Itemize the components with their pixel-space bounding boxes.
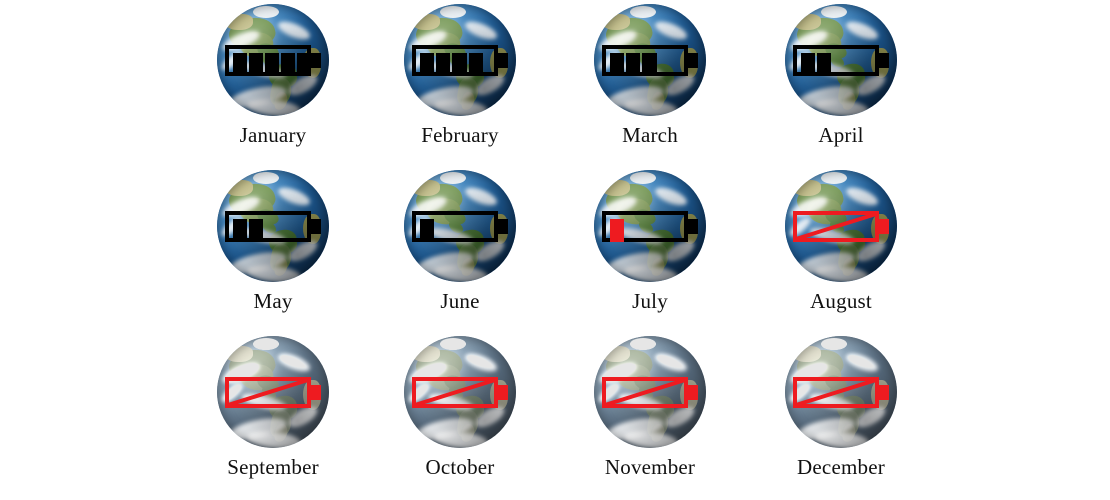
battery-segment xyxy=(420,53,434,76)
battery-outline xyxy=(602,45,688,76)
battery-segments xyxy=(420,219,498,242)
month-label: April xyxy=(818,125,863,146)
battery-segment xyxy=(281,53,295,76)
battery-segment xyxy=(420,219,434,242)
month-cell-october: October xyxy=(367,332,553,498)
battery-terminal-nub xyxy=(688,385,698,400)
battery-terminal-nub xyxy=(688,219,698,234)
battery-terminal-nub xyxy=(879,219,889,234)
globe-with-battery xyxy=(785,4,897,116)
battery-gauge-icon xyxy=(412,377,508,408)
battery-terminal-nub xyxy=(498,219,508,234)
battery-terminal-nub xyxy=(311,219,321,234)
battery-segments xyxy=(233,219,311,242)
battery-terminal-nub xyxy=(498,385,508,400)
month-label: January xyxy=(240,125,307,146)
battery-segment xyxy=(642,53,656,76)
battery-segments xyxy=(233,53,311,76)
battery-segments xyxy=(420,385,498,408)
globe-with-battery xyxy=(594,4,706,116)
globe-with-battery xyxy=(594,170,706,282)
battery-gauge-icon xyxy=(602,377,698,408)
battery-gauge-icon xyxy=(793,211,889,242)
month-label: July xyxy=(632,291,668,312)
month-cell-september: September xyxy=(180,332,366,498)
battery-gauge-icon xyxy=(793,377,889,408)
battery-outline xyxy=(412,45,498,76)
month-cell-april: April xyxy=(748,0,934,166)
month-label: December xyxy=(797,457,885,478)
battery-outline xyxy=(225,377,311,408)
battery-segments xyxy=(801,53,879,76)
battery-segment xyxy=(801,53,815,76)
battery-outline xyxy=(225,211,311,242)
month-cell-december: December xyxy=(748,332,934,498)
battery-segment xyxy=(452,53,466,76)
battery-gauge-icon xyxy=(412,45,508,76)
battery-gauge-icon xyxy=(793,45,889,76)
battery-segment xyxy=(233,219,247,242)
battery-terminal-nub xyxy=(498,53,508,68)
battery-segment xyxy=(436,53,450,76)
battery-outline xyxy=(412,211,498,242)
battery-segment xyxy=(610,219,624,242)
month-cell-july: July xyxy=(557,166,743,332)
battery-outline xyxy=(412,377,498,408)
battery-segments xyxy=(801,385,879,408)
month-cell-august: August xyxy=(748,166,934,332)
month-cell-february: February xyxy=(367,0,553,166)
globe-with-battery xyxy=(217,170,329,282)
month-label: May xyxy=(253,291,292,312)
battery-gauge-icon xyxy=(225,211,321,242)
battery-segment xyxy=(233,53,247,76)
globe-with-battery xyxy=(217,4,329,116)
globe-with-battery xyxy=(404,170,516,282)
battery-segments xyxy=(610,385,688,408)
battery-terminal-nub xyxy=(688,53,698,68)
battery-gauge-icon xyxy=(225,45,321,76)
battery-terminal-nub xyxy=(879,385,889,400)
battery-outline xyxy=(793,211,879,242)
battery-segment xyxy=(249,53,263,76)
battery-gauge-icon xyxy=(602,211,698,242)
month-label: August xyxy=(810,291,872,312)
battery-outline xyxy=(793,45,879,76)
battery-terminal-nub xyxy=(311,53,321,68)
globe-with-battery xyxy=(785,336,897,448)
battery-segments xyxy=(610,219,688,242)
month-cell-may: May xyxy=(180,166,366,332)
battery-outline xyxy=(793,377,879,408)
battery-gauge-icon xyxy=(225,377,321,408)
month-label: June xyxy=(440,291,479,312)
globe-with-battery xyxy=(785,170,897,282)
month-cell-june: June xyxy=(367,166,553,332)
battery-segment xyxy=(249,219,263,242)
battery-segments xyxy=(233,385,311,408)
month-label: October xyxy=(425,457,494,478)
battery-gauge-icon xyxy=(412,211,508,242)
month-cell-march: March xyxy=(557,0,743,166)
battery-outline xyxy=(602,211,688,242)
globe-with-battery xyxy=(404,4,516,116)
battery-outline xyxy=(225,45,311,76)
month-cell-january: January xyxy=(180,0,366,166)
battery-terminal-nub xyxy=(311,385,321,400)
month-label: November xyxy=(605,457,695,478)
globe-with-battery xyxy=(217,336,329,448)
month-label: March xyxy=(622,125,678,146)
battery-outline xyxy=(602,377,688,408)
month-label: September xyxy=(227,457,319,478)
month-cell-november: November xyxy=(557,332,743,498)
battery-segments xyxy=(801,219,879,242)
month-label: February xyxy=(421,125,498,146)
battery-segment xyxy=(817,53,831,76)
battery-segment xyxy=(469,53,483,76)
battery-terminal-nub xyxy=(879,53,889,68)
month-globe-grid: JanuaryFebruaryMarchAprilMayJuneJulyAugu… xyxy=(0,0,1110,500)
battery-segments xyxy=(420,53,498,76)
battery-segment xyxy=(265,53,279,76)
globe-with-battery xyxy=(594,336,706,448)
battery-segment xyxy=(610,53,624,76)
battery-segments xyxy=(610,53,688,76)
battery-segment xyxy=(626,53,640,76)
globe-with-battery xyxy=(404,336,516,448)
battery-gauge-icon xyxy=(602,45,698,76)
battery-segment xyxy=(297,53,311,76)
